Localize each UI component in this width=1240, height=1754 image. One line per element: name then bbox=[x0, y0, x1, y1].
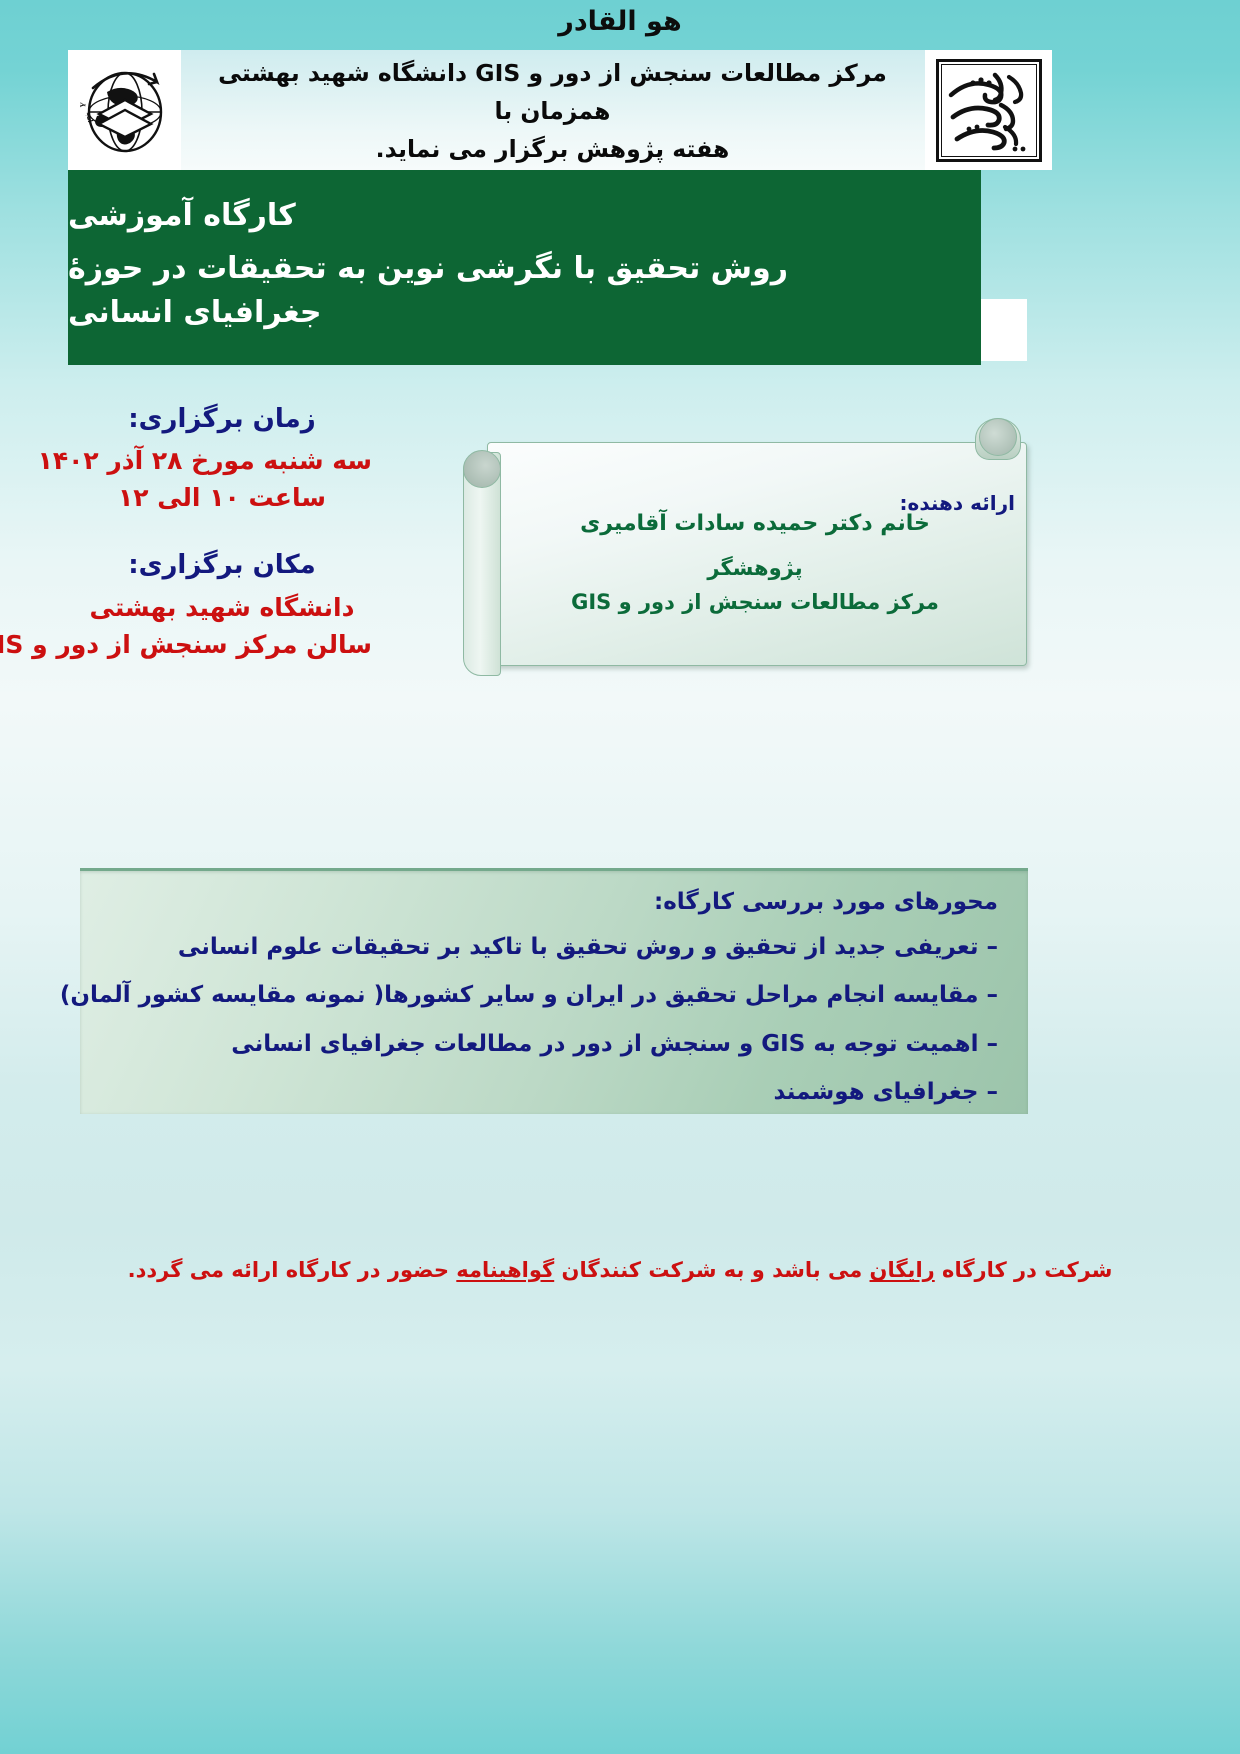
footer-note: شرکت در کارگاه رایگان می باشد و به شرکت … bbox=[0, 1258, 1240, 1282]
event-details-block: زمان برگزاری: سه شنبه مورخ ۲۸ آذر ۱۴۰۲ س… bbox=[72, 400, 372, 663]
banner-inner: کارگاه آموزشی روش تحقیق با نگرشی نوین به… bbox=[68, 170, 981, 365]
topic-item: – مقایسه انجام مراحل تحقیق در ایران و سا… bbox=[104, 981, 998, 1010]
presenter-info: ارائه دهنده: خانم دکتر حمیده سادات آقامی… bbox=[495, 446, 1015, 658]
footer-part-2: می باشد و به شرکت کنندگان bbox=[554, 1258, 869, 1282]
svg-text:IRANIAN RS & GIS SOCIETY: IRANIAN RS & GIS SOCIETY bbox=[71, 52, 88, 108]
header-organizer-text: مرکز مطالعات سنجش از دور و GIS دانشگاه ش… bbox=[190, 52, 915, 170]
iranian-rs-gis-society-logo: IRANIAN RS & GIS SOCIETY انجمن سنجش از د… bbox=[68, 50, 181, 170]
footer-part-3: حضور در کارگاه ارائه می گردد. bbox=[128, 1258, 457, 1282]
workshop-title-banner: کارگاه آموزشی روش تحقیق با نگرشی نوین به… bbox=[68, 170, 981, 365]
topics-title: محورهای مورد بررسی کارگاه: bbox=[104, 889, 998, 915]
presenter-role: پژوهشگر bbox=[707, 556, 802, 580]
shahid-beheshti-university-logo bbox=[925, 50, 1052, 170]
bismillah-text: هو القادر bbox=[0, 6, 1240, 37]
topic-item: – اهمیت توجه به GIS و سنجش از دور در مطا… bbox=[104, 1030, 998, 1059]
topic-item: – تعریفی جدید از تحقیق و روش تحقیق با تا… bbox=[104, 933, 998, 962]
presenter-name: خانم دکتر حمیده سادات آقامیری bbox=[580, 511, 930, 536]
topic-item: – جغرافیای هوشمند bbox=[104, 1078, 998, 1107]
header-line-1: مرکز مطالعات سنجش از دور و GIS دانشگاه ش… bbox=[190, 54, 915, 130]
calligraphy-icon bbox=[943, 65, 1035, 155]
spacer bbox=[72, 516, 372, 546]
banner-kicker: کارگاه آموزشی bbox=[68, 196, 296, 237]
footer-certificate-word: گواهینامه bbox=[456, 1258, 554, 1282]
header-line-2: هفته پژوهش برگزار می نماید. bbox=[376, 130, 730, 168]
banner-title-line-2: جغرافیای انسانی bbox=[68, 291, 322, 335]
logo-frame bbox=[936, 59, 1042, 162]
footer-free-word: رایگان bbox=[870, 1258, 935, 1282]
globe-icon: IRANIAN RS & GIS SOCIETY انجمن سنجش از د… bbox=[68, 50, 181, 170]
footer-part-1: شرکت در کارگاه bbox=[935, 1258, 1113, 1282]
topics-box: محورهای مورد بررسی کارگاه: – تعریفی جدید… bbox=[80, 868, 1028, 1114]
presenter-organization: مرکز مطالعات سنجش از دور و GIS bbox=[571, 590, 939, 614]
event-date: سه شنبه مورخ ۲۸ آذر ۱۴۰۲ bbox=[72, 442, 372, 479]
poster-canvas: هو القادر bbox=[0, 0, 1240, 1754]
presenter-scroll: ارائه دهنده: خانم دکتر حمیده سادات آقامی… bbox=[455, 432, 1025, 674]
logo-frame-inner bbox=[941, 64, 1037, 157]
banner-title-line-1: روش تحقیق با نگرشی نوین به تحقیقات در حو… bbox=[68, 247, 788, 291]
place-line-1: دانشگاه شهید بهشتی bbox=[72, 589, 372, 626]
time-label: زمان برگزاری: bbox=[72, 400, 372, 438]
place-line-2: سالن مرکز سنجش از دور و GIS bbox=[72, 626, 372, 663]
event-hours: ساعت ۱۰ الی ۱۲ bbox=[72, 479, 372, 516]
place-label: مکان برگزاری: bbox=[72, 546, 372, 584]
